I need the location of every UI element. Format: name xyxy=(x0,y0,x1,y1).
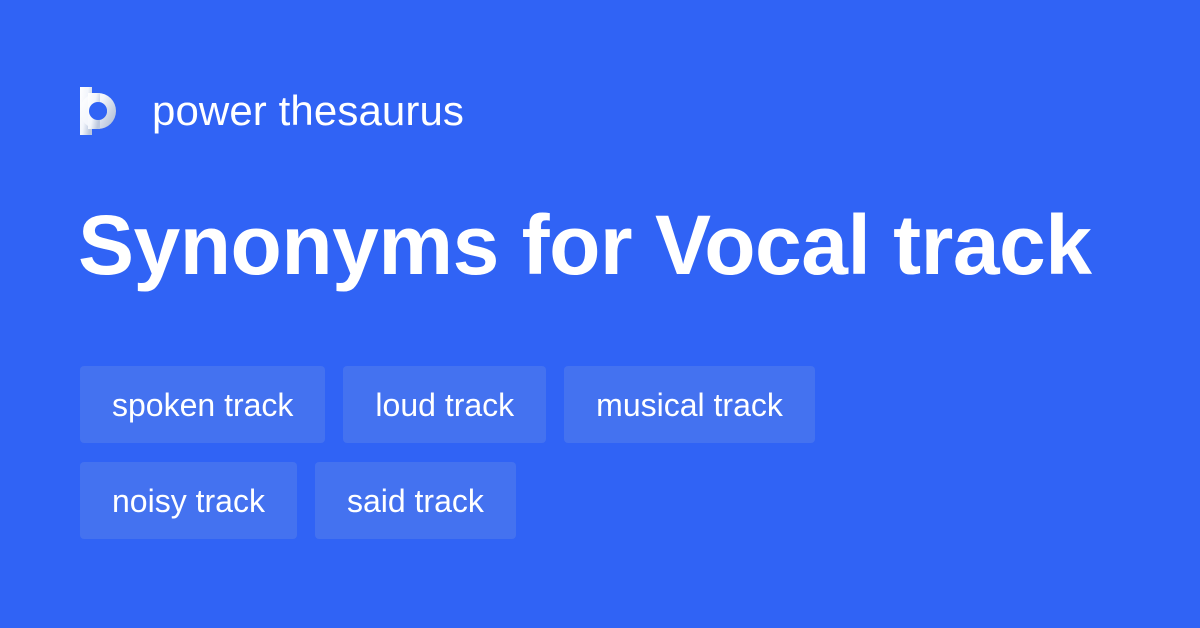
power-thesaurus-b-logo-icon xyxy=(80,87,122,135)
synonym-tag-list: spoken track loud track musical track no… xyxy=(80,366,1130,539)
synonym-tag[interactable]: musical track xyxy=(564,366,815,443)
synonym-row: spoken track loud track musical track xyxy=(80,366,1130,443)
synonym-row: noisy track said track xyxy=(80,462,1130,539)
synonym-tag[interactable]: loud track xyxy=(343,366,546,443)
brand-logo[interactable]: power thesaurus xyxy=(80,82,464,140)
synonym-tag[interactable]: spoken track xyxy=(80,366,325,443)
brand-name: power thesaurus xyxy=(152,87,464,135)
synonym-tag[interactable]: said track xyxy=(315,462,516,539)
page-title: Synonyms for Vocal track xyxy=(78,196,1091,294)
share-card: power thesaurus Synonyms for Vocal track… xyxy=(0,0,1200,628)
synonym-tag[interactable]: noisy track xyxy=(80,462,297,539)
